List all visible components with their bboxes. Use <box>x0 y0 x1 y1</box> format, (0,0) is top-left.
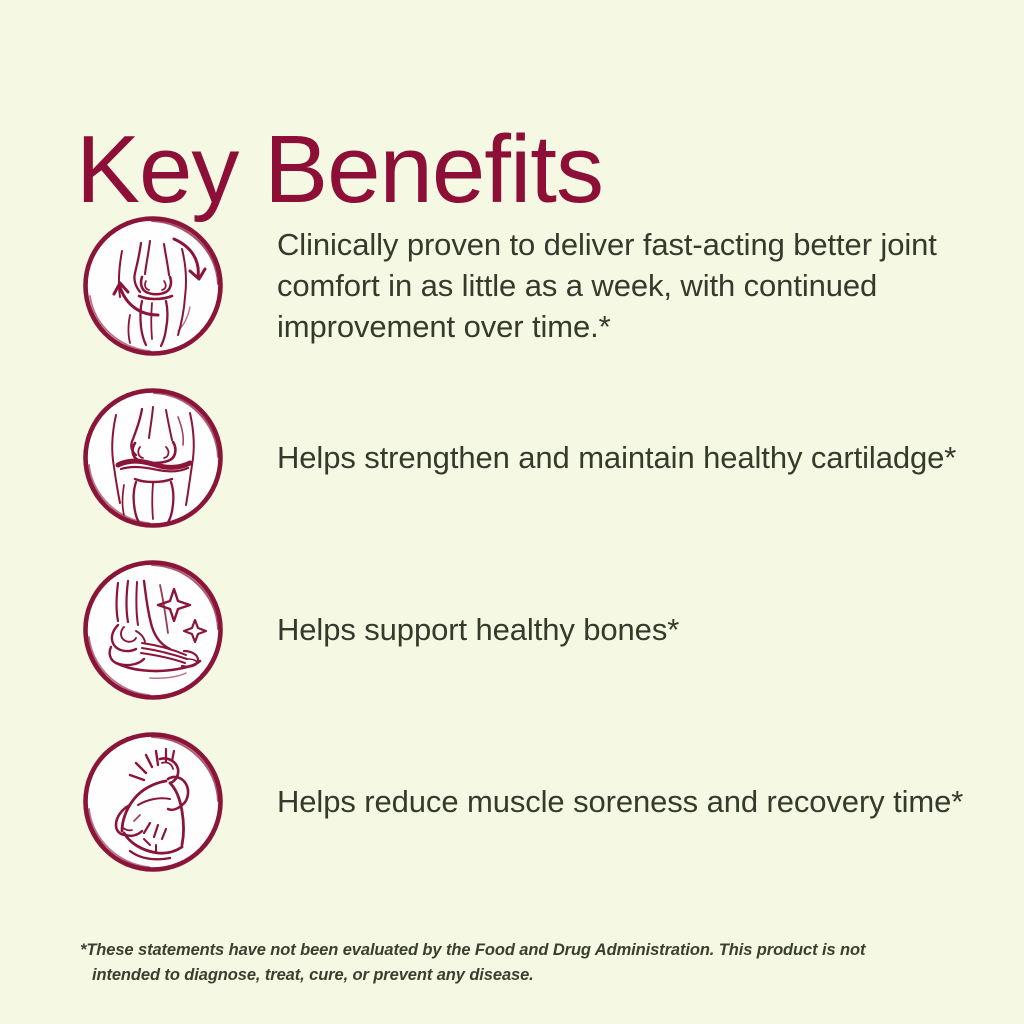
benefit-text-1: Clinically proven to deliver fast-acting… <box>277 224 1024 348</box>
benefit-text-3: Helps support healthy bones* <box>277 609 1024 650</box>
key-benefits-page: Key Benefits <box>0 0 1024 1024</box>
back-muscle-soreness-icon <box>78 727 228 877</box>
benefit-item-3: Helps support healthy bones* <box>0 552 1024 707</box>
fda-disclaimer: *These statements have not been evaluate… <box>80 938 940 988</box>
disclaimer-line-1: *These statements have not been evaluate… <box>80 941 865 959</box>
benefit-text-4: Helps reduce muscle soreness and recover… <box>277 781 1024 822</box>
knee-cartilage-icon <box>78 383 228 533</box>
page-title: Key Benefits <box>76 120 603 221</box>
benefit-item-4: Helps reduce muscle soreness and recover… <box>0 724 1024 879</box>
benefit-text-2: Helps strengthen and maintain healthy ca… <box>277 437 1024 478</box>
benefits-list: Clinically proven to deliver fast-acting… <box>0 208 1024 896</box>
benefit-item-2: Helps strengthen and maintain healthy ca… <box>0 380 1024 535</box>
disclaimer-line-2: intended to diagnose, treat, cure, or pr… <box>80 963 940 988</box>
knee-joint-mobility-icon <box>78 211 228 361</box>
foot-bones-icon <box>78 555 228 705</box>
benefit-item-1: Clinically proven to deliver fast-acting… <box>0 208 1024 363</box>
